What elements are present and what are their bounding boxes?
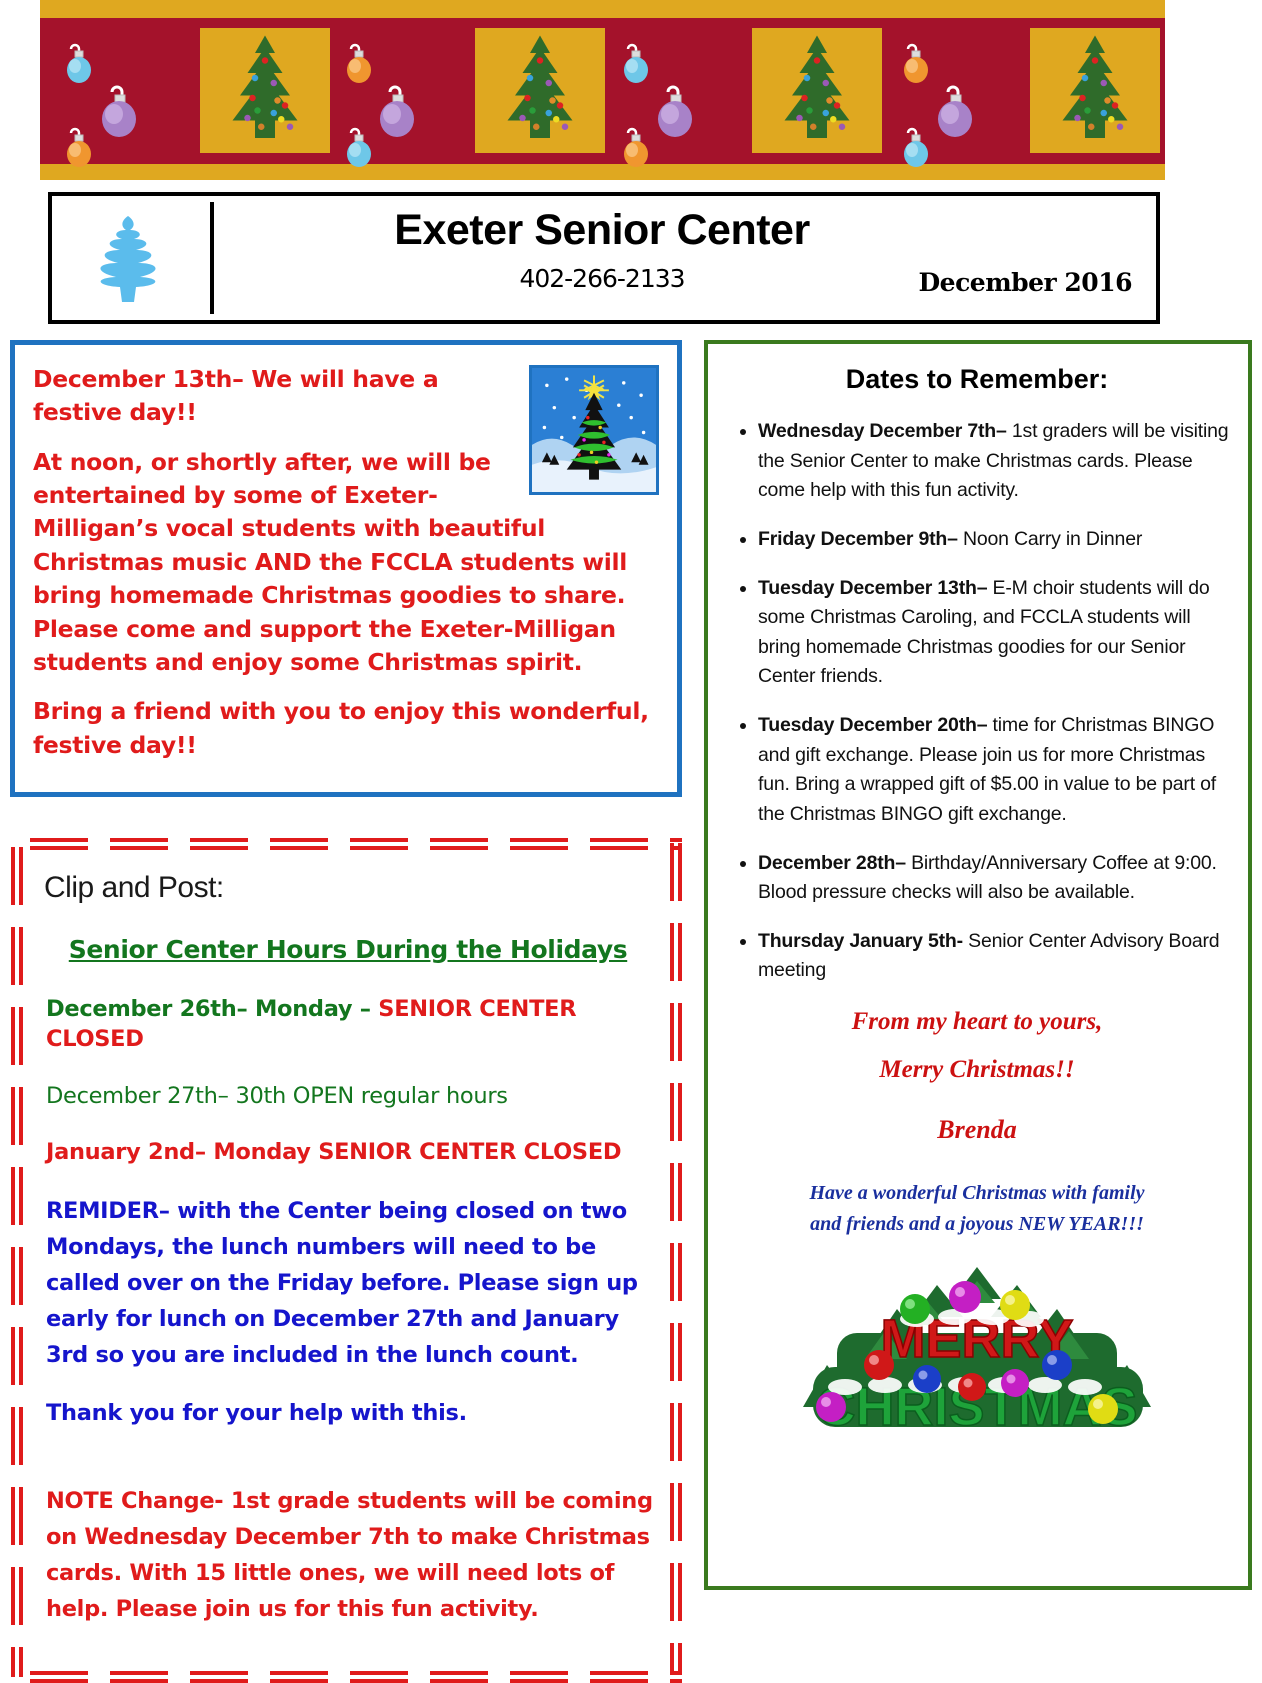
hours-row: December 27th– 30th OPEN regular hours (46, 1081, 662, 1111)
dates-to-remember-panel: Dates to Remember: Wednesday December 7t… (704, 340, 1252, 1590)
list-item: December 28th– Birthday/Anniversary Coff… (758, 849, 1232, 908)
clip-and-post-label: Clip and Post: (44, 871, 662, 905)
dates-list: Wednesday December 7th– 1st graders will… (722, 417, 1232, 986)
date-label: Thursday January 5th- (758, 930, 963, 952)
hours-heading: Senior Center Hours During the Holidays (34, 935, 662, 964)
signoff-line-1: From my heart to yours, (722, 1005, 1232, 1039)
date-label: Wednesday December 7th– (758, 420, 1007, 442)
note-change-text: NOTE Change- 1st grade students will be … (46, 1483, 662, 1627)
left-column: December 13th– We will have a festive da… (10, 340, 682, 1683)
banner-tree-panel (1030, 28, 1160, 153)
hours-date: December 26th– Monday – (46, 996, 378, 1022)
ornament-icon (615, 122, 657, 172)
banner-tree-panel (752, 28, 882, 153)
wish-line-1: Have a wonderful Christmas with family (722, 1179, 1232, 1208)
page-title: Exeter Senior Center (252, 206, 952, 255)
reminder-text: REMIDER– with the Center being closed on… (46, 1193, 662, 1373)
festive-day-box: December 13th– We will have a festive da… (10, 340, 682, 797)
banner-tree-panel (200, 28, 330, 153)
list-item: Friday December 9th– Noon Carry in Dinne… (758, 525, 1232, 555)
date-description: Noon Carry in Dinner (958, 528, 1142, 550)
signature: Brenda (722, 1115, 1232, 1145)
list-item: Wednesday December 7th– 1st graders will… (758, 417, 1232, 506)
date-label: Friday December 9th– (758, 528, 958, 550)
banner-tree-panel (475, 28, 605, 153)
list-item: Tuesday December 13th– E-M choir student… (758, 574, 1232, 693)
clip-border-bottom (30, 1670, 682, 1683)
issue-date: December 2016 (918, 268, 1132, 297)
date-label: December 28th– (758, 852, 906, 874)
ornament-icon (338, 122, 380, 172)
clip-border-right (669, 843, 682, 1674)
hours-row: December 26th– Monday – SENIOR CENTER CL… (46, 994, 662, 1055)
festive-para-3: Bring a friend with you to enjoy this wo… (33, 695, 659, 762)
ornament-icon (895, 122, 937, 172)
tree-icon (78, 208, 178, 308)
hours-row: January 2nd– Monday SENIOR CENTER CLOSED (46, 1137, 662, 1167)
signoff-line-2: Merry Christmas!! (722, 1053, 1232, 1087)
dates-title: Dates to Remember: (722, 364, 1232, 395)
list-item: Thursday January 5th- Senior Center Advi… (758, 927, 1232, 986)
snowy-christmas-tree-clipart (529, 365, 659, 495)
clip-border-left (10, 847, 23, 1678)
list-item: Tuesday December 20th– time for Christma… (758, 711, 1232, 830)
hours-status: January 2nd– Monday SENIOR CENTER CLOSED (46, 1139, 621, 1165)
decorative-banner (40, 0, 1165, 180)
clip-border-top (30, 837, 682, 850)
phone-number: 402-266-2133 (252, 264, 952, 293)
masthead: Exeter Senior Center 402-266-2133 Decemb… (48, 192, 1160, 324)
merry-christmas-wreath-art: MERRY CHRISTMAS (767, 1247, 1187, 1462)
blue-christmas-tree-logo (52, 196, 204, 320)
ornament-icon (58, 122, 100, 172)
date-label: Tuesday December 13th– (758, 577, 987, 599)
ornament-icon (92, 80, 148, 140)
masthead-divider (210, 202, 214, 314)
hours-date: December 27th– 30th OPEN regular hours (46, 1083, 508, 1109)
clip-and-post-box: Clip and Post: Senior Center Hours Durin… (10, 837, 682, 1683)
thanks-text: Thank you for your help with this. (46, 1395, 662, 1431)
wish-line-2: and friends and a joyous NEW YEAR!!! (722, 1210, 1232, 1239)
date-label: Tuesday December 20th– (758, 714, 987, 736)
